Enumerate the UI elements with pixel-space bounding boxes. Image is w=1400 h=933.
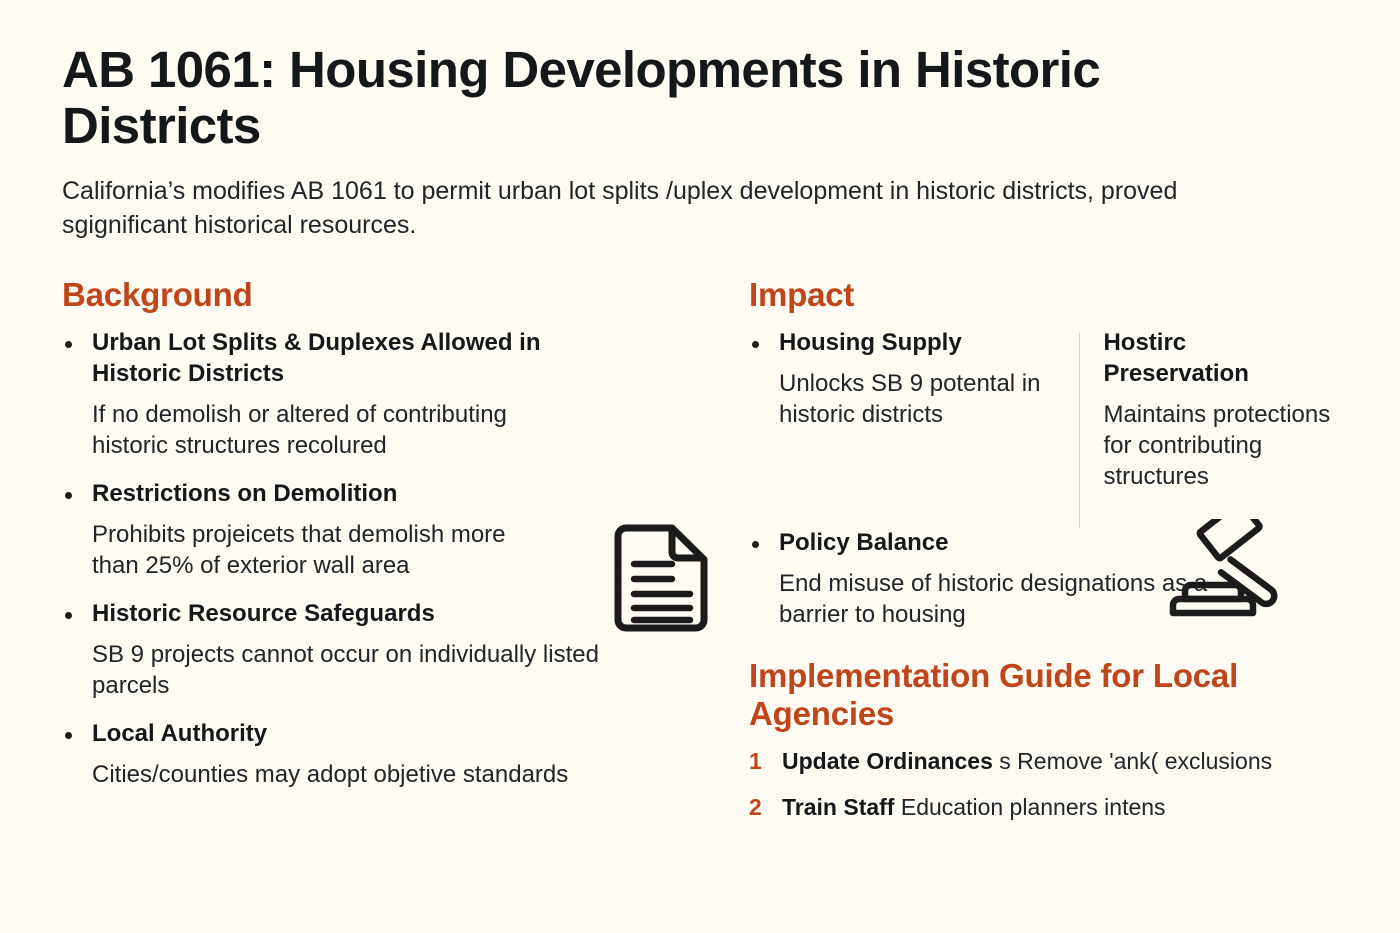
background-column: Background Urban Lot Splits & Duplexes A… — [62, 276, 702, 790]
impact-left-subcolumn: Housing Supply Unlocks SB 9 potental in … — [749, 328, 1079, 430]
step-text: s Remove 'ank( exclusions — [999, 748, 1272, 774]
bullet-title: Hostirc Preservation — [1103, 328, 1338, 389]
bullet-description: Unlocks SB 9 potental in historic distri… — [779, 368, 1079, 430]
impact-right-subcolumn: Hostirc Preservation Maintains protectio… — [1079, 328, 1338, 492]
list-item: 2 Train Staff Education planners intens — [749, 793, 1338, 823]
bullet-title: Restrictions on Demolition — [92, 479, 632, 510]
gavel-icon — [1167, 519, 1291, 623]
impact-two-column-group: Housing Supply Unlocks SB 9 potental in … — [749, 328, 1338, 528]
bullet-title: Local Authority — [92, 719, 652, 750]
list-item: Historic Resource Safeguards SB 9 projec… — [62, 599, 702, 701]
list-item: Local Authority Cities/counties may adop… — [62, 719, 702, 790]
bullet-description: Prohibits projeicets that demolish more … — [92, 519, 547, 581]
bullet-description: Cities/counties may adopt objetive stand… — [92, 759, 652, 790]
page-title: AB 1061: Housing Developments in Histori… — [62, 0, 1292, 153]
bullet-description: SB 9 projects cannot occur on individual… — [92, 639, 652, 701]
impact-bullet-list: Housing Supply Unlocks SB 9 potental in … — [749, 328, 1079, 430]
implementation-step-list: 1 Update Ordinances s Remove 'ank( exclu… — [749, 747, 1338, 823]
step-text: Education planners intens — [901, 794, 1166, 820]
content-columns: Background Urban Lot Splits & Duplexes A… — [62, 276, 1338, 823]
list-item: Housing Supply Unlocks SB 9 potental in … — [749, 328, 1079, 430]
bullet-description: If no demolish or altered of contributin… — [92, 399, 547, 461]
bullet-title: Urban Lot Splits & Duplexes Allowed in H… — [92, 328, 632, 389]
background-heading: Background — [62, 276, 702, 314]
page-subtitle: California’s modifies AB 1061 to permit … — [62, 175, 1277, 242]
impact-heading: Impact — [749, 276, 1338, 314]
step-label: Update Ordinances — [782, 748, 993, 774]
infographic-page: AB 1061: Housing Developments in Histori… — [0, 0, 1400, 933]
bullet-description: End misuse of historic designations as a… — [779, 568, 1219, 630]
background-bullet-list: Urban Lot Splits & Duplexes Allowed in H… — [62, 328, 702, 790]
step-number: 2 — [749, 793, 762, 823]
impact-lower-bullet-list: Policy Balance End misuse of historic de… — [749, 528, 1219, 630]
impact-column: Impact Housing Supply Unlocks SB 9 poten… — [702, 276, 1338, 823]
step-label: Train Staff — [782, 794, 894, 820]
list-item: 1 Update Ordinances s Remove 'ank( exclu… — [749, 747, 1338, 777]
bullet-description: Maintains protections for contributing s… — [1103, 399, 1338, 493]
list-item: Policy Balance End misuse of historic de… — [749, 528, 1219, 630]
list-item: Restrictions on Demolition Prohibits pro… — [62, 479, 702, 581]
bullet-title: Policy Balance — [779, 528, 1219, 559]
implementation-heading: Implementation Guide for Local Agencies — [749, 657, 1319, 734]
bullet-title: Historic Resource Safeguards — [92, 599, 652, 630]
step-number: 1 — [749, 747, 762, 777]
bullet-title: Housing Supply — [779, 328, 1079, 359]
document-icon — [610, 524, 712, 632]
list-item: Urban Lot Splits & Duplexes Allowed in H… — [62, 328, 702, 461]
